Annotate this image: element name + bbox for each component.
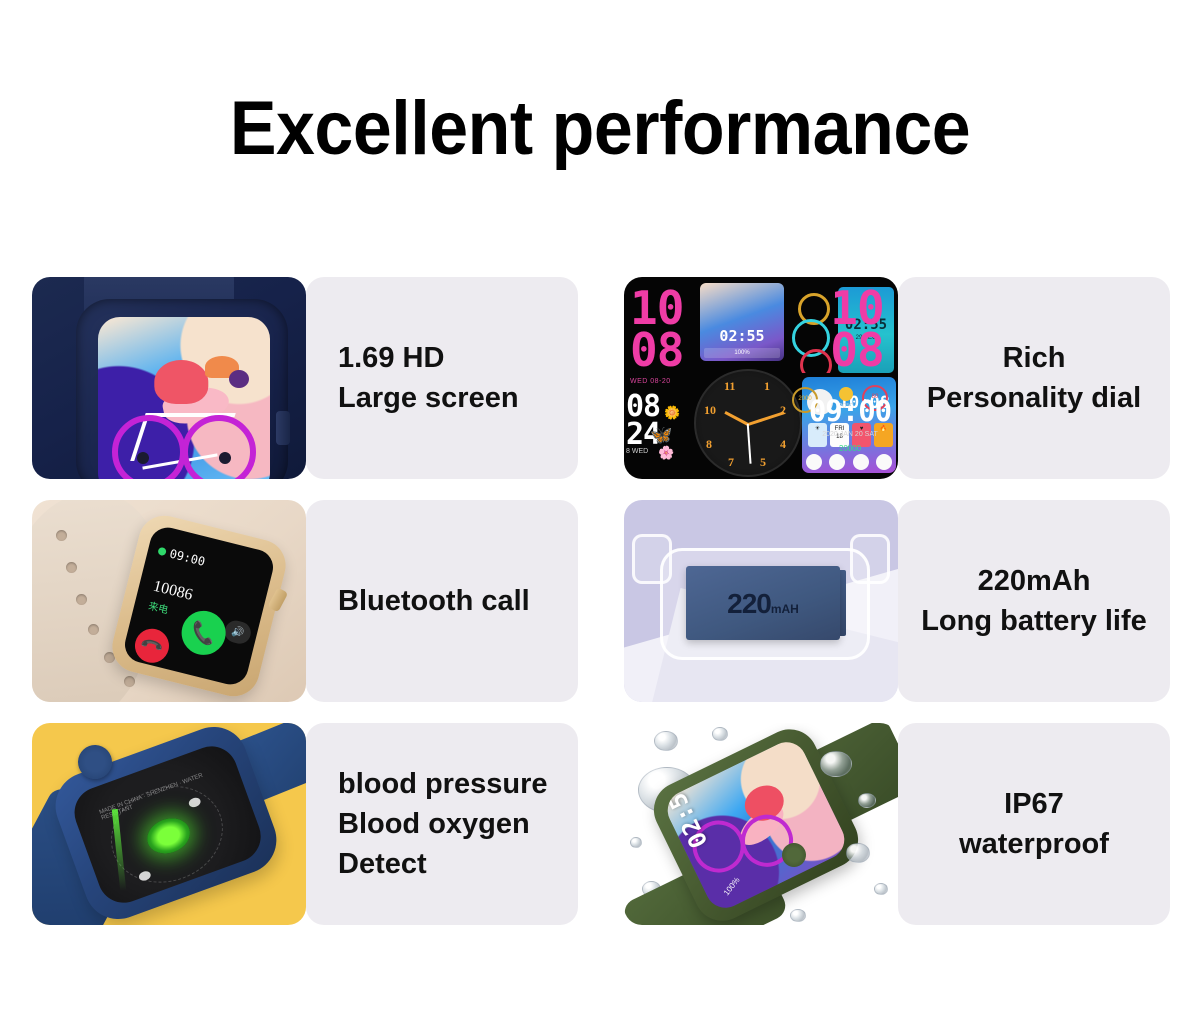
band-hole xyxy=(76,594,87,605)
analog-num-11: 11 xyxy=(724,379,735,394)
watch-face-collage-image: 1008 WED 08-20 02:55 100% 02:55 29 SEC 1… xyxy=(624,277,898,479)
battery-cell: 220mAH xyxy=(686,566,840,640)
cyclist-head xyxy=(154,360,208,404)
feature-card-large-screen: 1.69 HD Large screen xyxy=(32,277,578,479)
feature-text-waterproof: IP67 waterproof xyxy=(898,723,1170,925)
blue-watch-back-sensor-image: MADE IN CHINA · SHENZHEN · WATER RESISTA… xyxy=(32,723,306,925)
feature-line-3: Detect xyxy=(338,844,427,884)
dial-cyclist-time: 02:55 xyxy=(700,327,784,345)
watch-screen xyxy=(98,317,270,479)
feature-card-health-detect: MADE IN CHINA · SHENZHEN · WATER RESISTA… xyxy=(32,723,578,925)
minute-hand xyxy=(748,411,785,426)
dial-pink-right: 1008 WED 08-20 xyxy=(820,287,894,385)
call-screen-time: 09:00 xyxy=(168,547,206,569)
feature-line-1: 1.69 HD xyxy=(338,338,444,378)
band-hole xyxy=(88,624,99,635)
dial-analog-chronograph: 11 10 8 7 5 4 2 1 xyxy=(694,369,802,477)
battery-capacity-label: 220mAH xyxy=(686,588,840,620)
dial-cyclist-battery: 100% xyxy=(704,348,780,358)
feature-line-1: Bluetooth call xyxy=(338,581,530,621)
target-shortcut-icon xyxy=(853,454,869,470)
feature-grid: 1.69 HD Large screen 1008 WED 08-20 02:5… xyxy=(32,277,1170,922)
speaker-icon[interactable]: 🔊 xyxy=(223,618,254,646)
wheel-hub-rear xyxy=(219,452,231,464)
feature-text-battery: 220mAh Long battery life xyxy=(898,500,1170,702)
feature-text-personality-dial: Rich Personality dial xyxy=(898,277,1170,479)
analog-num-5: 5 xyxy=(760,455,766,470)
water-droplet xyxy=(858,793,876,808)
phone-accept-icon[interactable]: 📞 xyxy=(177,606,230,659)
analog-num-10: 10 xyxy=(704,403,716,418)
watch-crown xyxy=(267,587,288,612)
dial-blue-shortcuts xyxy=(802,454,896,470)
phone-decline-icon[interactable]: 📞 xyxy=(129,622,176,669)
phone-shortcut-icon xyxy=(806,454,822,470)
dial-cyclist: 02:55 100% xyxy=(700,283,784,361)
water-droplet xyxy=(790,909,806,922)
analog-num-8: 8 xyxy=(706,437,712,452)
band-hole xyxy=(66,562,77,573)
feature-line-2: Long battery life xyxy=(921,601,1147,641)
watch-screen-time: 02:55 xyxy=(661,775,713,852)
dial-pink-left: 1008 WED 08-20 xyxy=(630,287,702,385)
sleep-shortcut-icon xyxy=(829,454,845,470)
caller-label: 来电 xyxy=(147,597,170,616)
hour-hand xyxy=(724,411,748,426)
cyclist-goggles xyxy=(229,370,249,388)
dial-pink-right-time: 1008 xyxy=(820,287,894,372)
water-droplet xyxy=(712,727,728,741)
analog-num-4: 4 xyxy=(780,437,786,452)
feature-line-1: IP67 xyxy=(1004,784,1064,824)
battery-capacity-unit: mAH xyxy=(771,602,799,616)
flower-icon: 🌼 xyxy=(664,405,680,421)
dial-nine-time: 09:00 xyxy=(802,394,898,428)
feature-card-personality-dial: 1008 WED 08-20 02:55 100% 02:55 29 SEC 1… xyxy=(624,277,1170,479)
feature-line-1: Rich xyxy=(1003,338,1066,378)
watch-crown xyxy=(276,411,290,445)
water-droplet xyxy=(820,751,852,777)
feature-line-1: blood pressure xyxy=(338,764,548,804)
green-smartwatch-water-droplets-image: 02:55 100% xyxy=(624,723,898,925)
dial-nine-date: 2020 JAN 20 SAT xyxy=(802,431,898,438)
second-hand xyxy=(747,424,751,464)
feature-card-bluetooth-call: 09:00 10086 来电 🔊 📞 📞 Bluetooth call xyxy=(32,500,578,702)
feature-card-waterproof: 02:55 100% IP67 waterproof xyxy=(624,723,1170,925)
water-droplet xyxy=(630,837,642,848)
dial-nine-steps: 20000 xyxy=(802,444,898,453)
feature-text-health-detect: blood pressure Blood oxygen Detect xyxy=(306,723,578,925)
call-status-dot-icon xyxy=(157,547,167,557)
battery-shortcut-icon xyxy=(876,454,892,470)
battery-capacity-value: 220 xyxy=(727,588,771,619)
page-title: Excellent performance xyxy=(48,86,1152,172)
water-droplet xyxy=(654,731,678,751)
bicycle-wheel-rear xyxy=(182,415,256,479)
dial-pink-left-time: 1008 xyxy=(630,287,702,372)
feature-line-2: Blood oxygen xyxy=(338,804,530,844)
water-droplet xyxy=(874,883,888,895)
analog-num-7: 7 xyxy=(728,455,734,470)
call-screen: 09:00 10086 来电 🔊 📞 📞 xyxy=(121,524,277,688)
feature-text-bluetooth-call: Bluetooth call xyxy=(306,500,578,702)
watch-screen-battery: 100% xyxy=(722,876,742,898)
feature-card-battery: 220mAH 220mAh Long battery life xyxy=(624,500,1170,702)
flower-icon-2: 🌸 xyxy=(658,445,674,461)
band-hole xyxy=(124,676,135,687)
dial-nine-oclock: 09:00 2020 JAN 20 SAT 20000 xyxy=(802,394,898,453)
gold-smartwatch-incoming-call-image: 09:00 10086 来电 🔊 📞 📞 xyxy=(32,500,306,702)
water-droplet xyxy=(846,843,870,863)
bicycle-wheel-front xyxy=(112,415,186,479)
analog-num-1: 1 xyxy=(764,379,770,394)
transparent-watch-battery-image: 220mAH xyxy=(624,500,898,702)
feature-line-2: waterproof xyxy=(959,824,1109,864)
feature-line-1: 220mAh xyxy=(978,561,1091,601)
navy-smartwatch-cyclist-dial-image xyxy=(32,277,306,479)
dial-pink-left-date: WED 08-20 xyxy=(630,378,702,385)
wheel-hub-front xyxy=(137,452,149,464)
butterfly-icon: 🦋 xyxy=(650,425,672,446)
feature-line-2: Personality dial xyxy=(927,378,1141,418)
feature-line-2: Large screen xyxy=(338,378,519,418)
band-hole xyxy=(56,530,67,541)
feature-text-large-screen: 1.69 HD Large screen xyxy=(306,277,578,479)
